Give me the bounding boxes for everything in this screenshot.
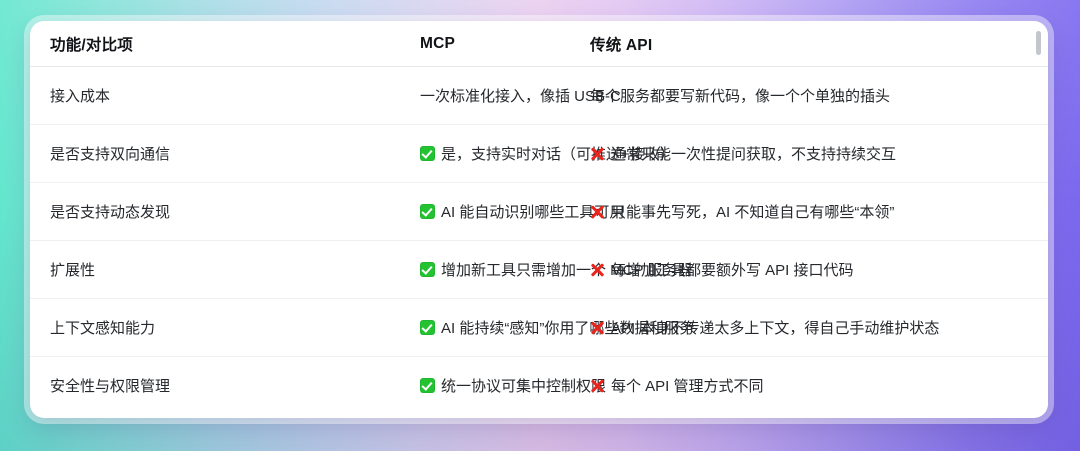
row-api-cell: 每个服务都要写新代码，像一个个单独的插头 <box>590 67 1048 125</box>
row-api-cell: 只能事先写死，AI 不知道自己有哪些“本领” <box>590 183 1048 241</box>
column-header-legacy-api: 传统 API <box>590 21 1048 67</box>
row-api-cell: 通常只能一次性提问获取，不支持持续交互 <box>590 125 1048 183</box>
table-header: 功能/对比项 MCP 传统 API <box>30 21 1048 67</box>
cross-mark-icon <box>590 262 605 277</box>
table-header-row: 功能/对比项 MCP 传统 API <box>30 21 1048 67</box>
cross-mark-icon <box>590 378 605 393</box>
row-feature-label: 是否支持动态发现 <box>30 183 215 241</box>
column-header-feature: 功能/对比项 <box>30 21 215 67</box>
api-cell-text: 只能事先写死，AI 不知道自己有哪些“本领” <box>611 201 894 222</box>
api-cell-text: 每个服务都要写新代码，像一个个单独的插头 <box>590 85 890 106</box>
check-mark-icon <box>420 204 435 219</box>
row-mcp-cell: 统一协议可集中控制权限 <box>215 357 590 415</box>
table-row: 接入成本 一次标准化接入，像插 USB-C 每个服务都要写新代码，像一个个单独的… <box>30 67 1048 125</box>
vertical-scrollbar-thumb[interactable] <box>1036 31 1041 55</box>
row-api-cell: 每增加工具都要额外写 API 接口代码 <box>590 241 1048 299</box>
table-row: 安全性与权限管理 统一协议可集中控制权限 每个 API 管理方式不同 <box>30 357 1048 415</box>
row-feature-label: 安全性与权限管理 <box>30 357 215 415</box>
comparison-table: 功能/对比项 MCP 传统 API 接入成本 一次标准化接入，像插 USB-C <box>30 21 1048 414</box>
row-api-cell: 每个 API 管理方式不同 <box>590 357 1048 415</box>
api-cell-text: 每增加工具都要额外写 API 接口代码 <box>611 259 854 280</box>
comparison-table-card: 功能/对比项 MCP 传统 API 接入成本 一次标准化接入，像插 USB-C <box>30 21 1048 418</box>
row-api-cell: API 本身不传递太多上下文，得自己手动维护状态 <box>590 299 1048 357</box>
gradient-backdrop: 功能/对比项 MCP 传统 API 接入成本 一次标准化接入，像插 USB-C <box>0 0 1080 451</box>
row-mcp-cell: 是，支持实时对话（可推送+接收） <box>215 125 590 183</box>
check-mark-icon <box>420 146 435 161</box>
column-header-mcp: MCP <box>215 21 590 67</box>
row-feature-label: 上下文感知能力 <box>30 299 215 357</box>
api-cell-text: 每个 API 管理方式不同 <box>611 375 764 396</box>
row-mcp-cell: 增加新工具只需增加一个 MCP 服务器 <box>215 241 590 299</box>
api-cell-text: API 本身不传递太多上下文，得自己手动维护状态 <box>611 317 939 338</box>
row-mcp-cell: 一次标准化接入，像插 USB-C <box>215 67 590 125</box>
row-feature-label: 扩展性 <box>30 241 215 299</box>
table-row: 扩展性 增加新工具只需增加一个 MCP 服务器 每增加工具都要额外写 API 接… <box>30 241 1048 299</box>
table-row: 是否支持双向通信 是，支持实时对话（可推送+接收） 通常只能一次性提问获取，不支… <box>30 125 1048 183</box>
cross-mark-icon <box>590 320 605 335</box>
row-mcp-cell: AI 能持续“感知”你用了哪些数据和服务 <box>215 299 590 357</box>
api-cell-text: 通常只能一次性提问获取，不支持持续交互 <box>611 143 896 164</box>
row-feature-label: 接入成本 <box>30 67 215 125</box>
table-row: 是否支持动态发现 AI 能自动识别哪些工具可用 只能事先写死，AI 不知道自己有… <box>30 183 1048 241</box>
cross-mark-icon <box>590 146 605 161</box>
cross-mark-icon <box>590 204 605 219</box>
check-mark-icon <box>420 262 435 277</box>
check-mark-icon <box>420 320 435 335</box>
row-feature-label: 是否支持双向通信 <box>30 125 215 183</box>
check-mark-icon <box>420 378 435 393</box>
table-row: 上下文感知能力 AI 能持续“感知”你用了哪些数据和服务 API 本身不传递太多… <box>30 299 1048 357</box>
mcp-cell-text: 统一协议可集中控制权限 <box>441 375 606 396</box>
row-mcp-cell: AI 能自动识别哪些工具可用 <box>215 183 590 241</box>
table-body: 接入成本 一次标准化接入，像插 USB-C 每个服务都要写新代码，像一个个单独的… <box>30 67 1048 415</box>
